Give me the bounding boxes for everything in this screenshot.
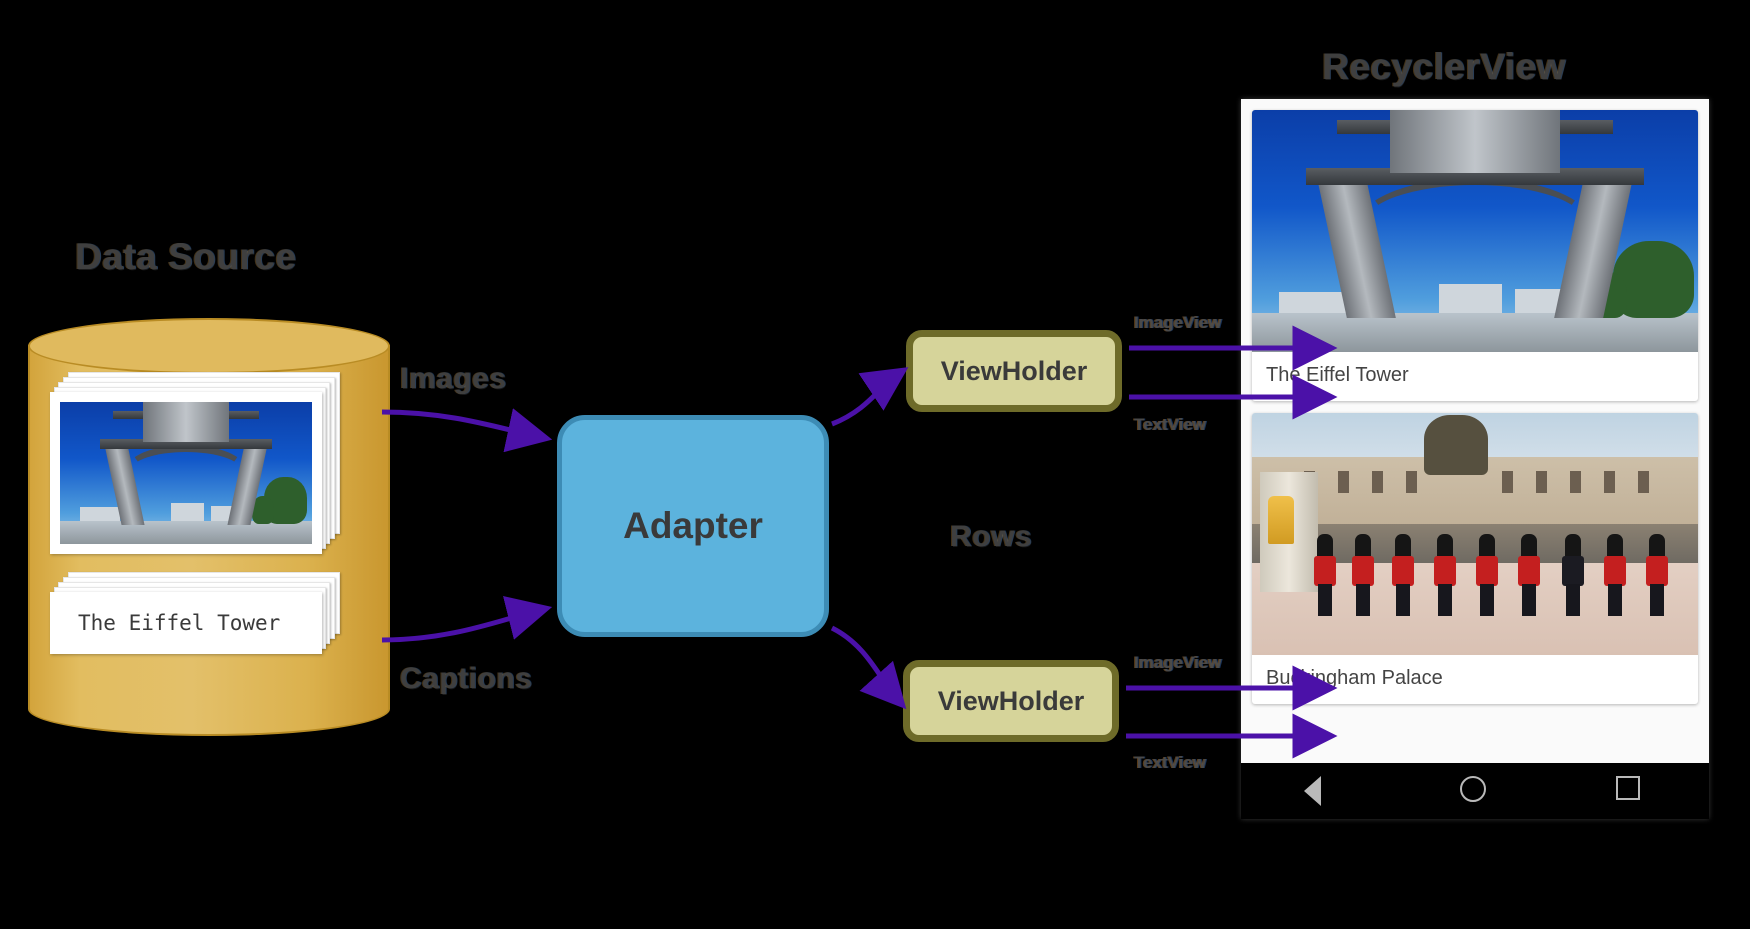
arrow-adapter-to-viewholder-1 [832, 374, 898, 424]
row-1-text-view: The Eiffel Tower [1252, 352, 1698, 401]
buckingham-palace-image [1252, 413, 1698, 655]
recents-icon[interactable] [1616, 776, 1646, 806]
recyclerview-row-1[interactable]: The Eiffel Tower [1252, 110, 1698, 401]
recyclerview-row-2[interactable]: Buckingham Palace [1252, 413, 1698, 704]
flow-label-captions: Captions [400, 662, 532, 696]
viewholder-label-2: ViewHolder [938, 686, 1085, 717]
cylinder-bottom [28, 682, 390, 736]
edge-label-textview-1: TextView [1134, 415, 1206, 435]
data-source-caption-text: The Eiffel Tower [50, 611, 280, 635]
diagram-canvas: Data Source RecyclerView [0, 0, 1750, 929]
page-title-data-source: Data Source [75, 236, 296, 278]
page-title-recyclerview: RecyclerView [1322, 46, 1566, 88]
edge-label-imageview-1: ImageView [1134, 313, 1222, 333]
eiffel-tower-image [1252, 110, 1698, 352]
arrow-captions-to-adapter [382, 610, 540, 640]
eiffel-tower-image [60, 402, 312, 544]
recyclerview-device: The Eiffel Tower [1241, 99, 1709, 819]
edge-label-imageview-2: ImageView [1134, 653, 1222, 673]
data-source-caption-stack: The Eiffel Tower [50, 572, 340, 652]
arrow-adapter-to-viewholder-2 [832, 628, 898, 700]
flow-label-rows: Rows [950, 520, 1032, 554]
edge-label-textview-2: TextView [1134, 753, 1206, 773]
row-2-text-view: Buckingham Palace [1252, 655, 1698, 704]
back-icon[interactable] [1304, 776, 1334, 806]
data-source-caption-card: The Eiffel Tower [50, 592, 322, 654]
viewholder-node-2[interactable]: ViewHolder [903, 660, 1119, 742]
cylinder-top [28, 318, 390, 374]
recyclerview-list[interactable]: The Eiffel Tower [1241, 99, 1709, 763]
adapter-node[interactable]: Adapter [557, 415, 829, 637]
row-2-image-view [1252, 413, 1698, 655]
viewholder-node-1[interactable]: ViewHolder [906, 330, 1122, 412]
android-navigation-bar [1241, 763, 1709, 819]
viewholder-label-1: ViewHolder [941, 356, 1088, 387]
arrow-images-to-adapter [382, 412, 540, 437]
home-icon[interactable] [1460, 776, 1490, 806]
data-source-photo-stack [50, 372, 340, 552]
flow-label-images: Images [400, 362, 506, 396]
data-source-photo [50, 392, 322, 554]
row-1-image-view [1252, 110, 1698, 352]
adapter-label: Adapter [623, 505, 763, 547]
